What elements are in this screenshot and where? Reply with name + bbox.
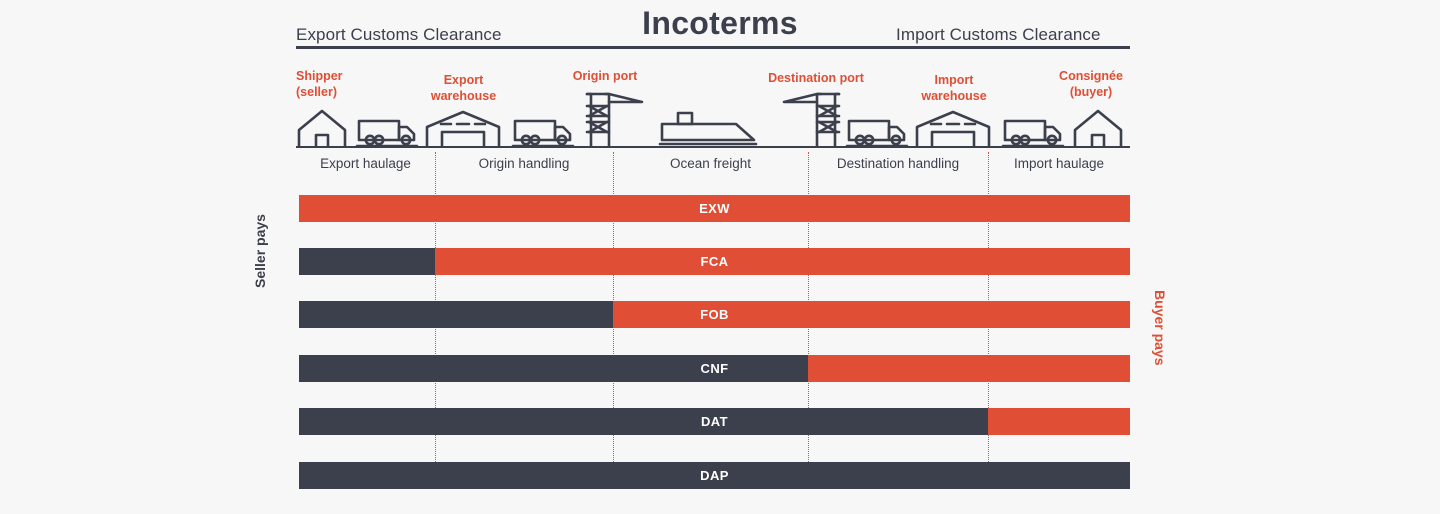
node-label-export-warehouse-line2: warehouse <box>406 88 521 104</box>
incoterms-diagram: Export Customs Clearance Incoterms Impor… <box>0 0 1440 514</box>
page-title: Incoterms <box>0 5 1440 42</box>
node-label-shipper-line2: (seller) <box>296 84 343 100</box>
node-label-shipper-line1: Shipper <box>296 68 343 84</box>
node-label-consignee: Consignée (buyer) <box>1032 68 1150 100</box>
truck-icon <box>846 116 908 148</box>
warehouse-icon <box>914 108 992 148</box>
node-label-export-warehouse-line1: Export <box>406 72 521 88</box>
incoterm-bar-dat[interactable]: DAT <box>299 408 1130 435</box>
bar-segment-buyer <box>988 408 1130 435</box>
bar-segment-buyer <box>808 355 1130 382</box>
node-label-consignee-line1: Consignée <box>1032 68 1150 84</box>
node-label-origin-port-line1: Origin port <box>546 68 664 84</box>
node-label-export-warehouse: Export warehouse <box>406 72 521 104</box>
incoterm-bar-fca[interactable]: FCA <box>299 248 1130 275</box>
stage-label-export-haulage: Export haulage <box>296 156 435 171</box>
stage-label-origin-handling: Origin handling <box>435 156 613 171</box>
warehouse-icon <box>424 108 502 148</box>
crane-icon <box>578 90 644 148</box>
incoterm-bar-dap[interactable]: DAP <box>299 462 1130 489</box>
node-label-shipper: Shipper (seller) <box>296 68 343 100</box>
ground-rule <box>296 146 1130 148</box>
node-label-origin-port: Origin port <box>546 68 664 84</box>
bar-segment-seller <box>299 408 988 435</box>
seller-pays-axis-label: Seller pays <box>252 178 268 288</box>
stage-label-ocean-freight: Ocean freight <box>613 156 808 171</box>
node-label-import-warehouse-line1: Import <box>896 72 1012 88</box>
bar-segment-buyer <box>299 195 1130 222</box>
house-icon <box>296 108 348 148</box>
node-label-destination-port-line1: Destination port <box>742 70 890 86</box>
crane-icon <box>782 90 848 148</box>
bar-segment-seller <box>299 462 1130 489</box>
truck-icon <box>356 116 418 148</box>
bar-segment-seller <box>299 355 808 382</box>
node-label-destination-port: Destination port <box>742 70 890 86</box>
bar-segment-buyer <box>613 301 1130 328</box>
buyer-pays-axis-label: Buyer pays <box>1152 290 1168 365</box>
header-rule <box>296 46 1130 49</box>
incoterm-bar-cnf[interactable]: CNF <box>299 355 1130 382</box>
bar-segment-seller <box>299 301 613 328</box>
incoterm-bar-exw[interactable]: EXW <box>299 195 1130 222</box>
bar-segment-buyer <box>435 248 1130 275</box>
incoterm-bar-fob[interactable]: FOB <box>299 301 1130 328</box>
node-label-import-warehouse-line2: warehouse <box>896 88 1012 104</box>
ship-icon <box>658 110 758 148</box>
node-label-consignee-line2: (buyer) <box>1032 84 1150 100</box>
stage-label-destination-handling: Destination handling <box>808 156 988 171</box>
truck-icon <box>1002 116 1064 148</box>
import-customs-clearance-label: Import Customs Clearance <box>896 25 1101 45</box>
truck-icon <box>512 116 574 148</box>
stage-label-import-haulage: Import haulage <box>988 156 1130 171</box>
house-icon <box>1072 108 1124 148</box>
bar-segment-seller <box>299 248 435 275</box>
node-label-import-warehouse: Import warehouse <box>896 72 1012 104</box>
